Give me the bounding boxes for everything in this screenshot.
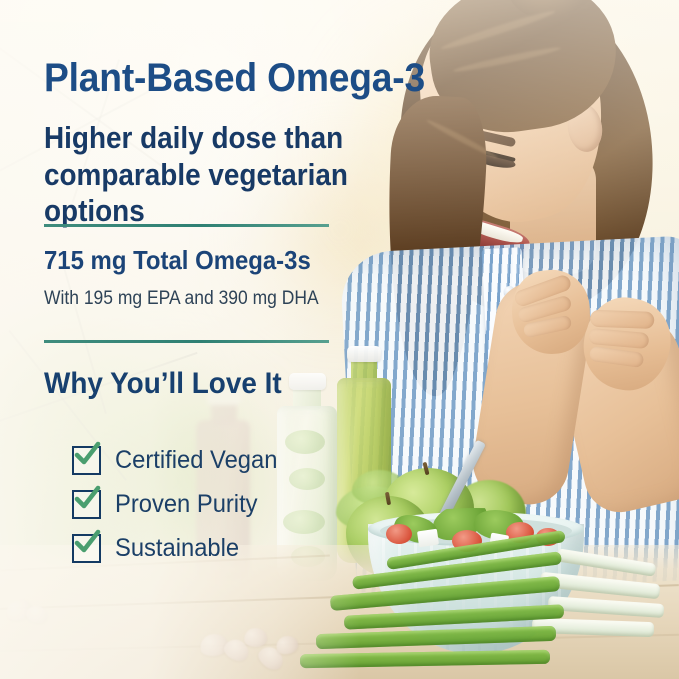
divider-bottom — [44, 340, 329, 343]
subtitle-line-2: comparable vegetarian options — [44, 157, 422, 230]
checkbox-checked-icon — [72, 446, 101, 475]
page-title: Plant-Based Omega-3 — [44, 58, 435, 98]
benefits-list: Certified Vegan Proven Purity Sustainabl… — [72, 438, 402, 570]
checkbox-checked-icon — [72, 534, 101, 563]
list-item-label: Certified Vegan — [115, 448, 277, 473]
list-item: Proven Purity — [72, 482, 402, 526]
subtitle: Higher daily dose than comparable vegeta… — [44, 120, 422, 230]
list-item: Sustainable — [72, 526, 402, 570]
list-item-label: Proven Purity — [115, 492, 258, 517]
total-omega-value: 715 mg Total Omega-3s — [44, 247, 430, 273]
product-infographic: Plant-Based Omega-3 Higher daily dose th… — [0, 0, 679, 679]
list-item-label: Sustainable — [115, 536, 239, 561]
text-content: Plant-Based Omega-3 Higher daily dose th… — [0, 0, 679, 679]
benefits-heading: Why You’ll Love It — [44, 369, 282, 399]
list-item: Certified Vegan — [72, 438, 402, 482]
checkbox-checked-icon — [72, 490, 101, 519]
epa-dha-breakdown: With 195 mg EPA and 390 mg DHA — [44, 289, 430, 308]
subtitle-line-1: Higher daily dose than — [44, 120, 422, 157]
divider-top — [44, 224, 329, 227]
